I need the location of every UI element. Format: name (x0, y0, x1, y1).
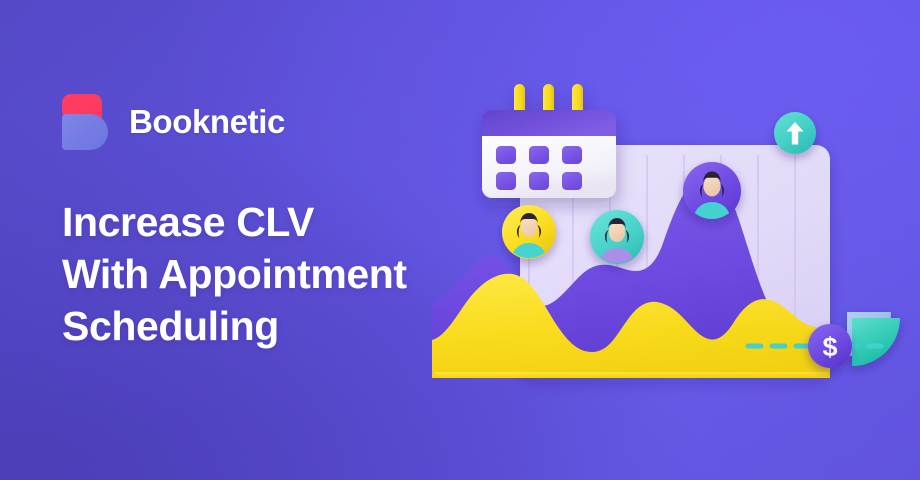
analytics-illustration: $ (418, 60, 920, 420)
pie-chart-icon (847, 268, 900, 366)
brand-logo[interactable]: Booknetic (62, 94, 285, 150)
page-title: Increase CLV With Appointment Scheduling (62, 196, 407, 352)
user-avatar-icon[interactable] (683, 162, 741, 220)
logo-bottom-shape (62, 114, 108, 150)
headline-line-1: Increase CLV (62, 196, 407, 248)
dollar-badge[interactable]: $ (808, 324, 852, 368)
chart-baseline (434, 372, 830, 378)
promo-banner: Booknetic Increase CLV With Appointment … (0, 0, 920, 480)
brand-name: Booknetic (129, 103, 285, 141)
arrow-up-badge[interactable] (774, 112, 816, 154)
headline-line-3: Scheduling (62, 300, 407, 352)
calendar-icon (482, 84, 616, 198)
headline-line-2: With Appointment (62, 248, 407, 300)
dollar-icon: $ (822, 332, 837, 362)
booknetic-b-logo-icon (62, 94, 110, 150)
